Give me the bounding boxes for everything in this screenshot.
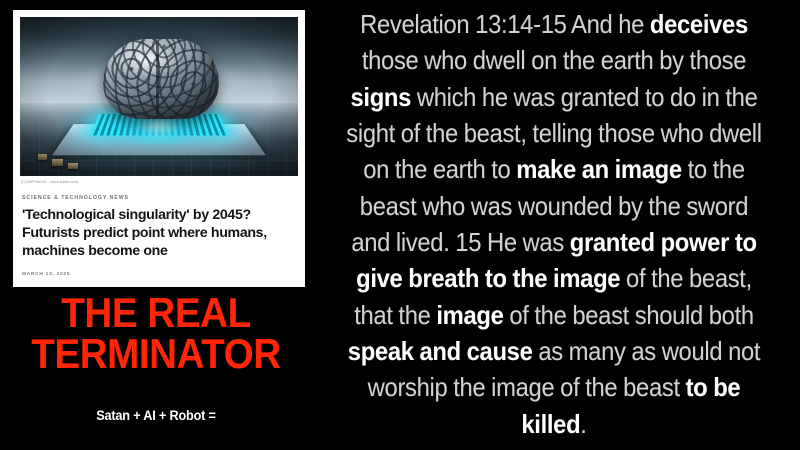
news-date: MARCH 13, 2025 [22,272,296,277]
news-text-block: SCIENCE & TECHNOLOGY NEWS 'Technological… [20,195,298,277]
meme-title-line-2: TERMINATOR [12,333,299,374]
meme-slide: (C) AMPYokU21 - stock.adobe.com) SCIENCE… [0,0,800,450]
scripture-text: Revelation 13:14-15 And he deceives thos… [338,7,770,443]
scripture-run: Revelation 13:14-15 And he [360,11,650,39]
scripture-emphasis: make an image [516,156,682,184]
scripture-emphasis: speak and cause [348,338,533,366]
news-headline: 'Technological singularity' by 2045? Fut… [22,207,296,261]
scripture-emphasis: signs [350,84,411,112]
news-kicker: SCIENCE & TECHNOLOGY NEWS [22,195,296,201]
scripture-run: those who dwell on the earth by those [362,47,746,75]
photo-vignette [20,17,298,176]
meme-title: THE REAL TERMINATOR [12,292,299,374]
left-panel: (C) AMPYokU21 - stock.adobe.com) SCIENCE… [0,0,312,450]
meme-subtitle: Satan + AI + Robot = [9,408,302,423]
scripture-run: of the beast should both [504,302,754,330]
brain-on-microchip-photo [20,17,298,176]
meme-title-line-1: THE REAL [12,292,299,333]
scripture-panel: Revelation 13:14-15 And he deceives thos… [316,0,792,450]
scripture-run: . [580,411,586,439]
news-article-card: (C) AMPYokU21 - stock.adobe.com) SCIENCE… [13,10,305,287]
scripture-emphasis: image [436,302,503,330]
scripture-emphasis: deceives [650,11,748,39]
photo-credit: (C) AMPYokU21 - stock.adobe.com) [21,180,298,184]
